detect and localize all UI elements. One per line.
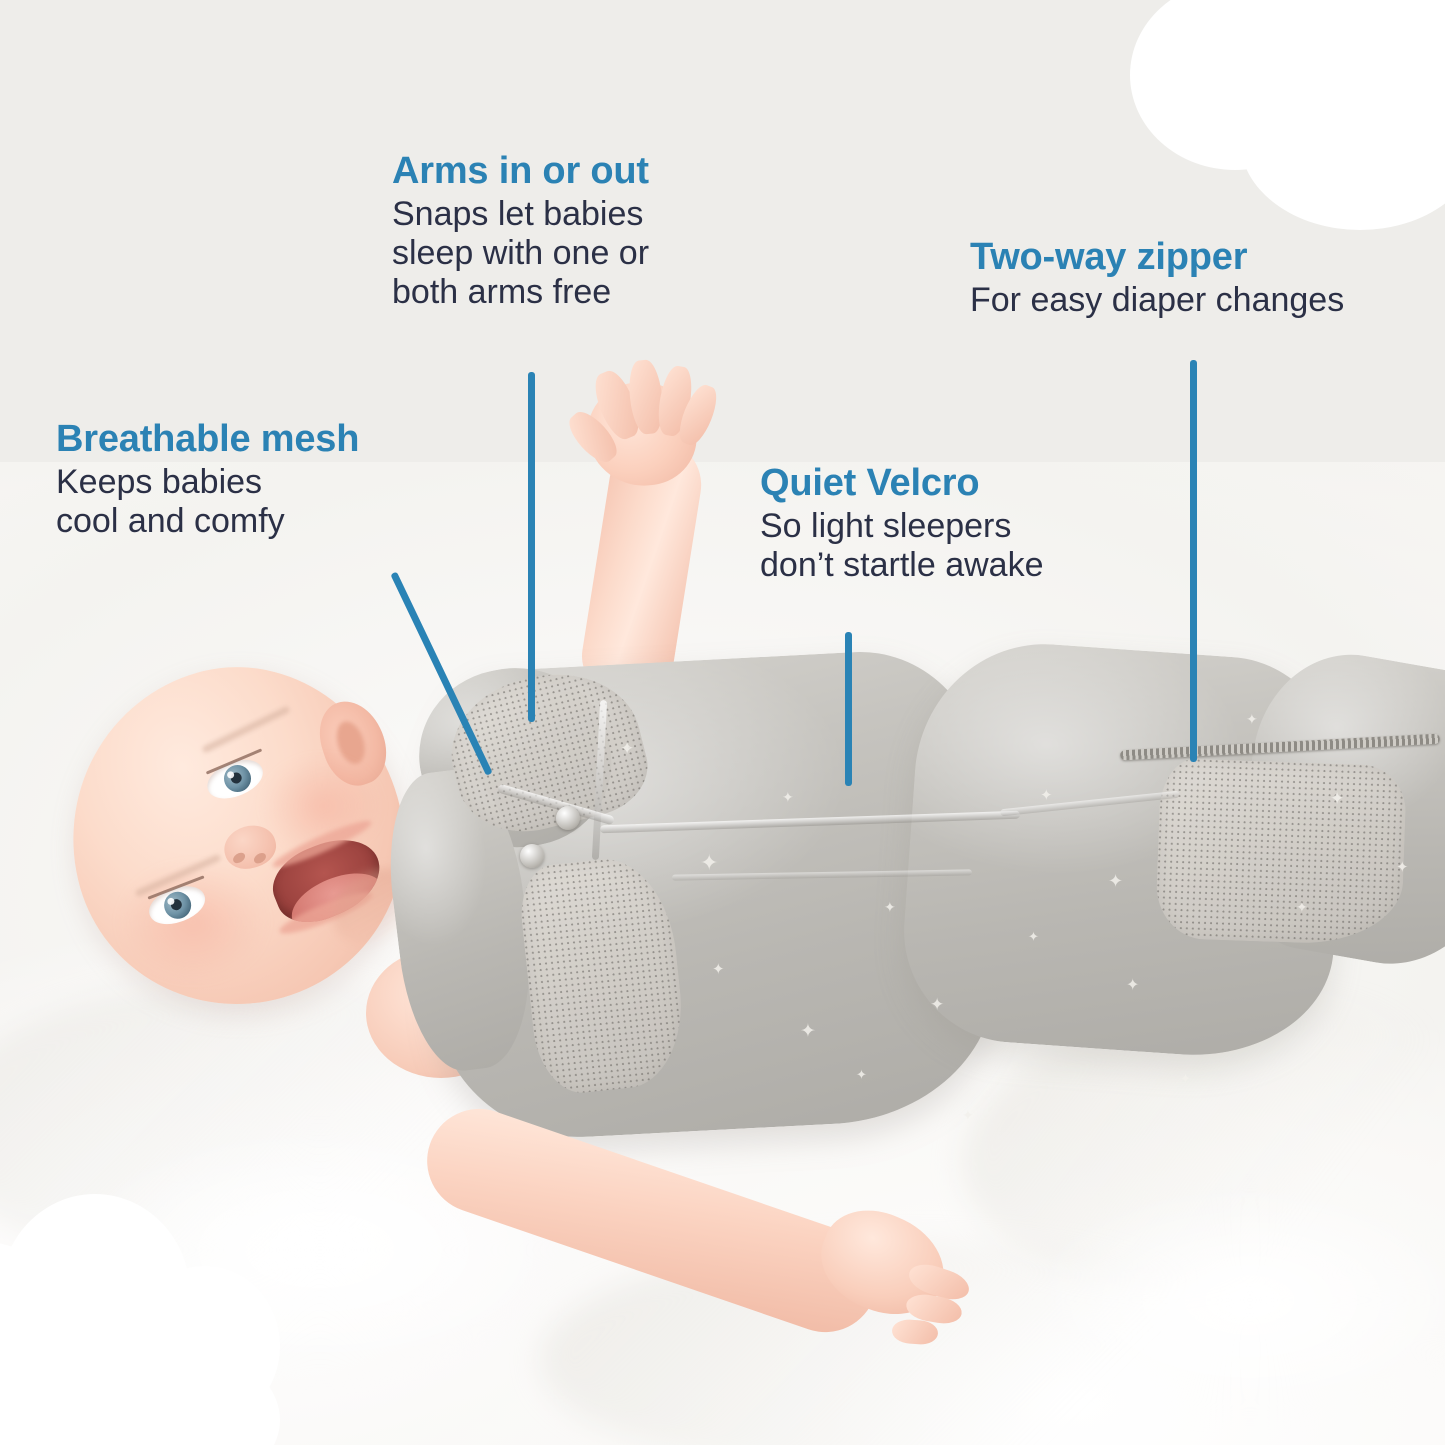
- callout-body-breathable-mesh: Keeps babies cool and comfy: [56, 463, 359, 541]
- cloud-bottom-left: [0, 1180, 320, 1445]
- callout-quiet-velcro: Quiet Velcro So light sleepers don’t sta…: [760, 462, 1044, 585]
- callout-body-arms-in-or-out: Snaps let babies sleep with one or both …: [392, 195, 649, 311]
- callout-arms-in-or-out: Arms in or out Snaps let babies sleep wi…: [392, 150, 649, 311]
- snap-fastener: [520, 844, 544, 868]
- leader-line-two-way-zipper: [1190, 360, 1197, 762]
- cloud-top-right: [1120, 0, 1445, 180]
- callout-heading-breathable-mesh: Breathable mesh: [56, 418, 359, 461]
- leader-line-quiet-velcro: [845, 632, 852, 786]
- callout-body-two-way-zipper: For easy diaper changes: [970, 281, 1344, 320]
- callout-breathable-mesh: Breathable mesh Keeps babies cool and co…: [56, 418, 359, 541]
- mesh-panel-hip: [1155, 758, 1407, 946]
- callout-two-way-zipper: Two-way zipper For easy diaper changes: [970, 236, 1344, 320]
- infographic-canvas: ✦ ✦ ✦ ✦ ✦ ✦ ✦ ✦ ✦ ✦ ✦ ✦ ✦ ✦ ✦ ✦ ✦ ✦: [0, 0, 1445, 1445]
- callout-heading-arms-in-or-out: Arms in or out: [392, 150, 649, 193]
- leader-line-arms-in-or-out: [528, 372, 535, 722]
- callout-body-quiet-velcro: So light sleepers don’t startle awake: [760, 507, 1044, 585]
- callout-heading-two-way-zipper: Two-way zipper: [970, 236, 1344, 279]
- snap-fastener: [556, 806, 580, 830]
- callout-heading-quiet-velcro: Quiet Velcro: [760, 462, 1044, 505]
- iris: [160, 888, 195, 923]
